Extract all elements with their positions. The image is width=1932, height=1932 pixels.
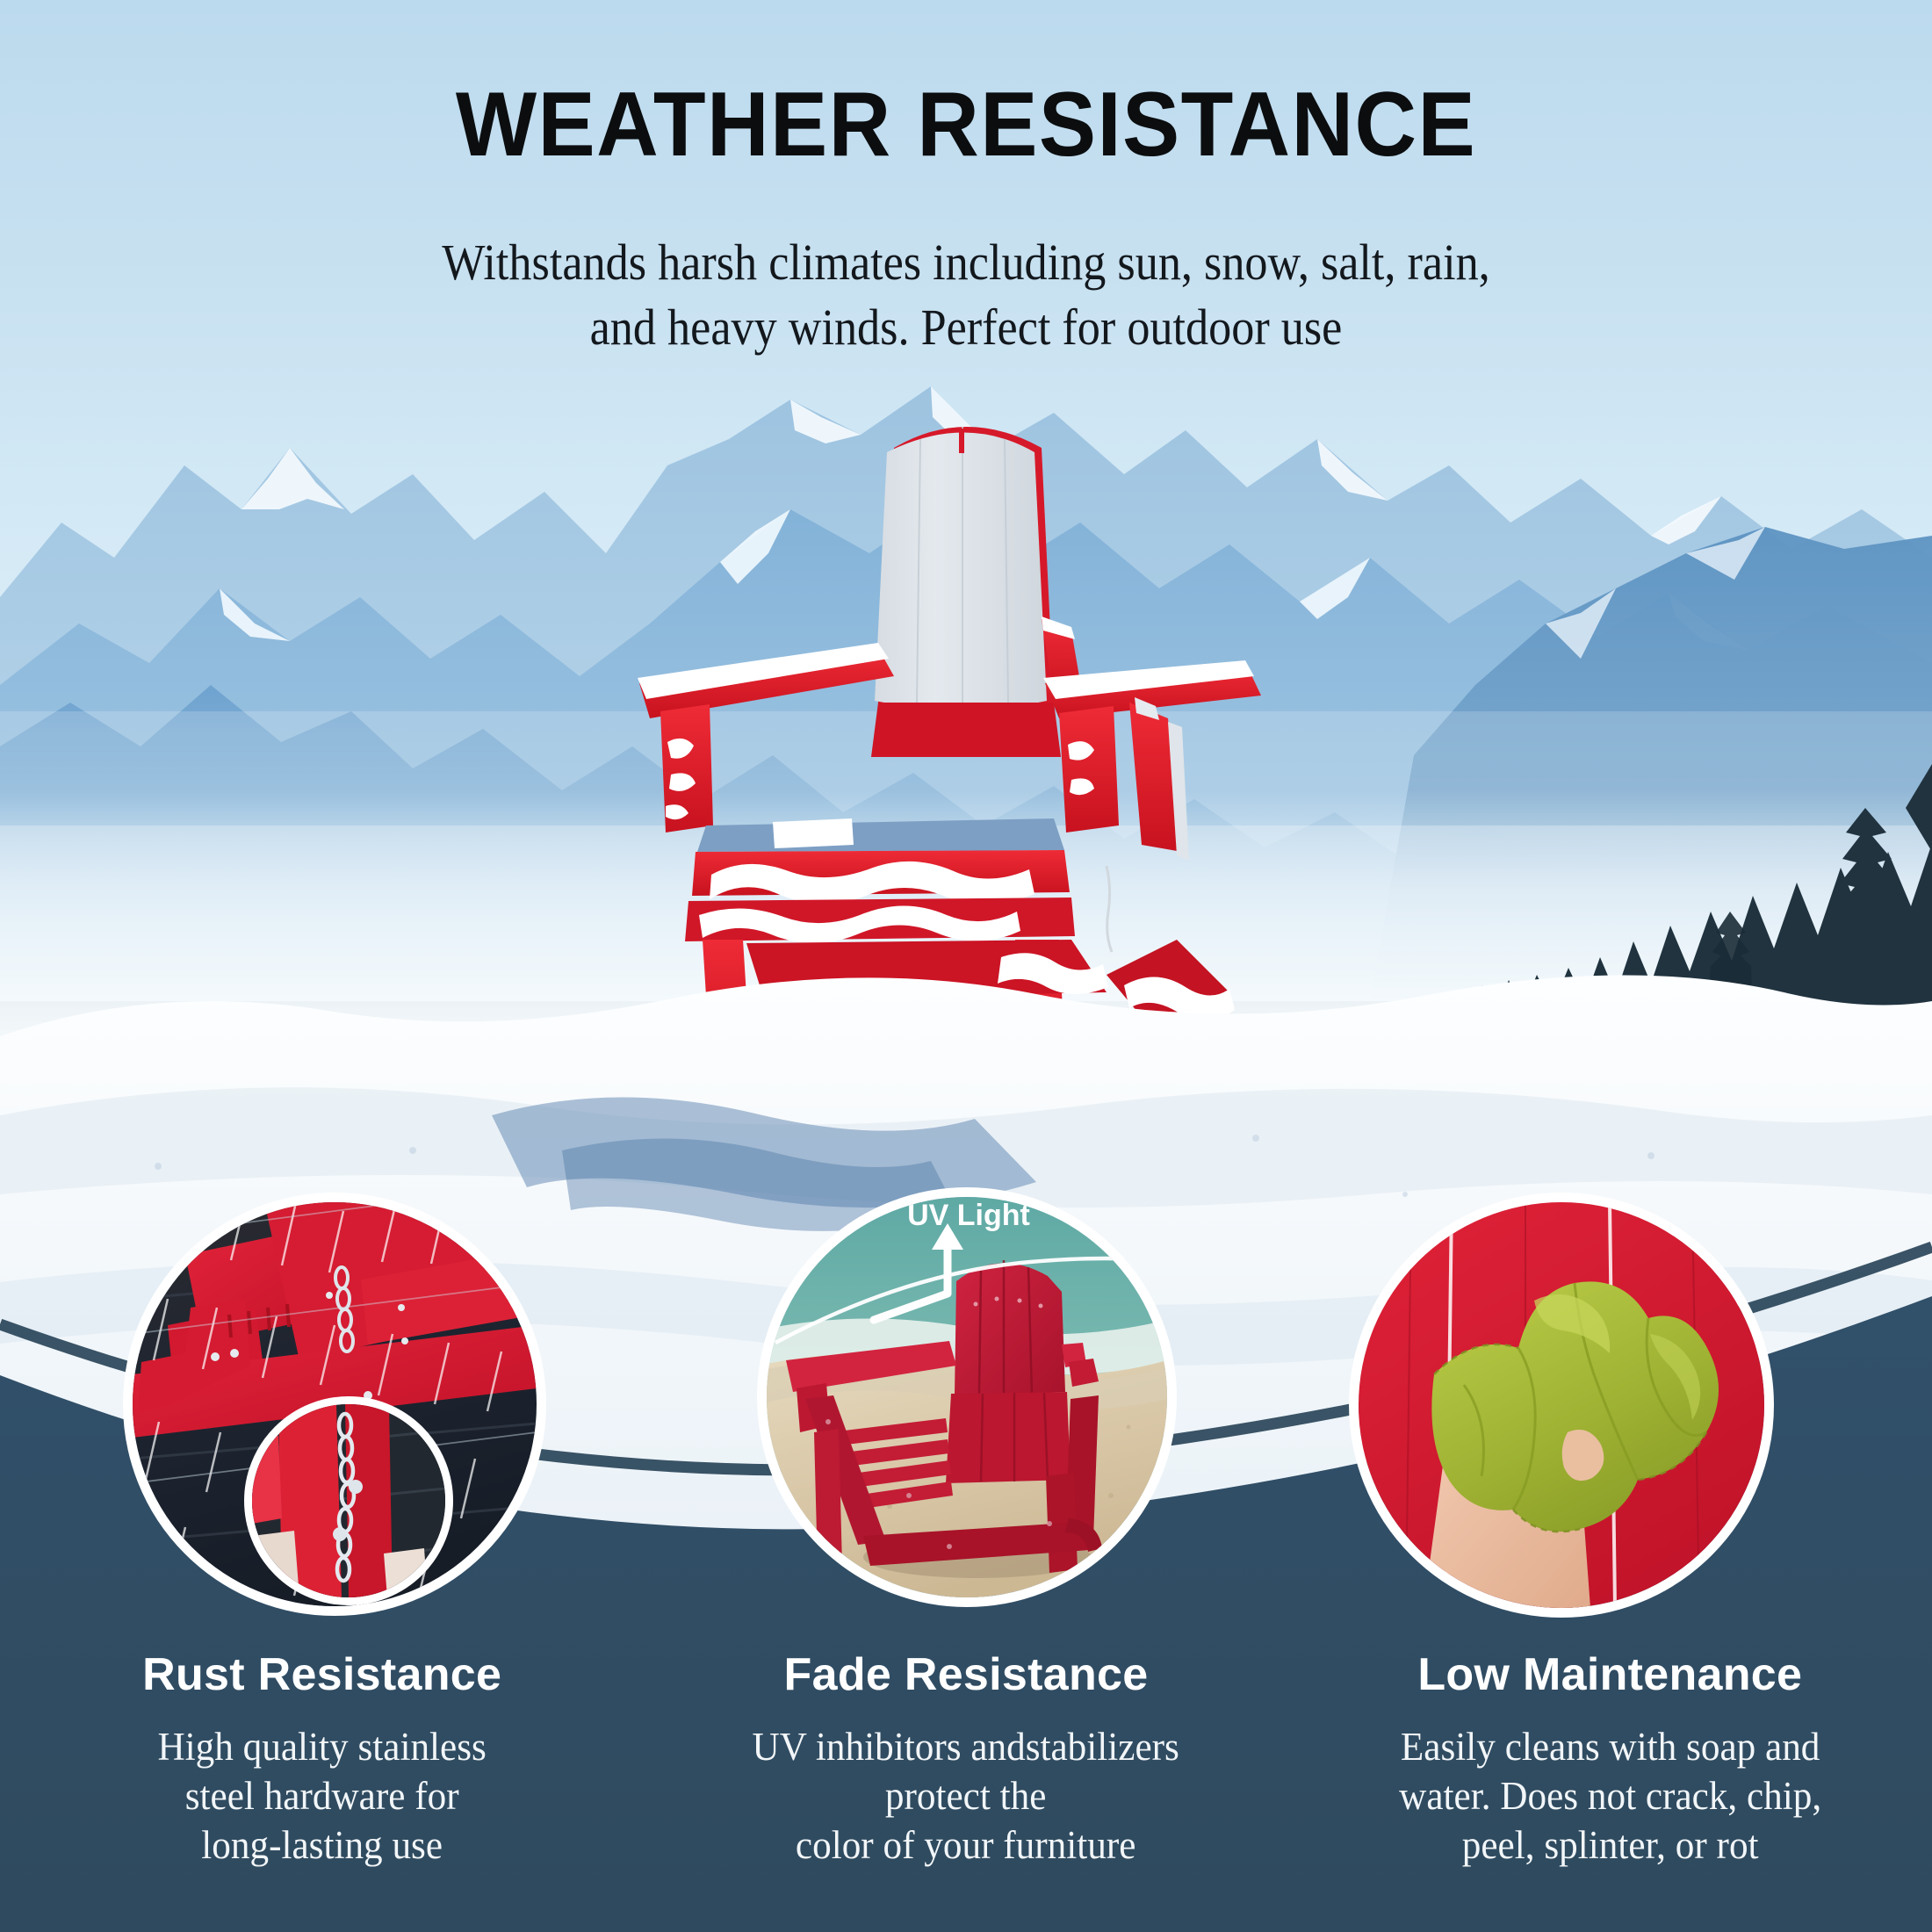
feature-description: Easily cleans with soap and water. Does … bbox=[1330, 1722, 1891, 1871]
feature-list: Rust Resistance High quality stainless s… bbox=[0, 1651, 1932, 1914]
subtitle-line-1: Withstands harsh climates including sun,… bbox=[97, 230, 1835, 295]
feature-title: Rust Resistance bbox=[30, 1651, 614, 1699]
feature-rust-resistance: Rust Resistance High quality stainless s… bbox=[0, 1651, 644, 1914]
feature-line: long-lasting use bbox=[41, 1820, 602, 1870]
feature-description: High quality stainless steel hardware fo… bbox=[41, 1722, 602, 1871]
feature-image-fade-resistance: UV Light bbox=[757, 1187, 1177, 1607]
page-subtitle: Withstands harsh climates including sun,… bbox=[97, 230, 1835, 360]
feature-line: peel, splinter, or rot bbox=[1330, 1820, 1891, 1870]
feature-line: water. Does not crack, chip, bbox=[1330, 1771, 1891, 1820]
feature-line: color of your furniture bbox=[686, 1820, 1247, 1870]
feature-inset-chain-detail bbox=[244, 1396, 453, 1605]
page-title: WEATHER RESISTANCE bbox=[58, 77, 1874, 173]
feature-line: protect the bbox=[686, 1771, 1247, 1820]
product-feature-graphic: UV Light bbox=[0, 0, 1932, 1932]
feature-line: UV inhibitors andstabilizers bbox=[686, 1722, 1247, 1771]
feature-line: Easily cleans with soap and bbox=[1330, 1722, 1891, 1771]
feature-line: High quality stainless bbox=[41, 1722, 602, 1771]
subtitle-line-2: and heavy winds. Perfect for outdoor use bbox=[97, 295, 1835, 360]
feature-description: UV inhibitors andstabilizers protect the… bbox=[686, 1722, 1247, 1871]
feature-title: Low Maintenance bbox=[1318, 1651, 1902, 1699]
feature-image-low-maintenance bbox=[1349, 1193, 1774, 1618]
feature-fade-resistance: Fade Resistance UV inhibitors andstabili… bbox=[644, 1651, 1287, 1914]
feature-title: Fade Resistance bbox=[674, 1651, 1258, 1699]
feature-low-maintenance: Low Maintenance Easily cleans with soap … bbox=[1288, 1651, 1932, 1914]
uv-light-label: UV Light bbox=[907, 1199, 1030, 1232]
feature-line: steel hardware for bbox=[41, 1771, 602, 1820]
